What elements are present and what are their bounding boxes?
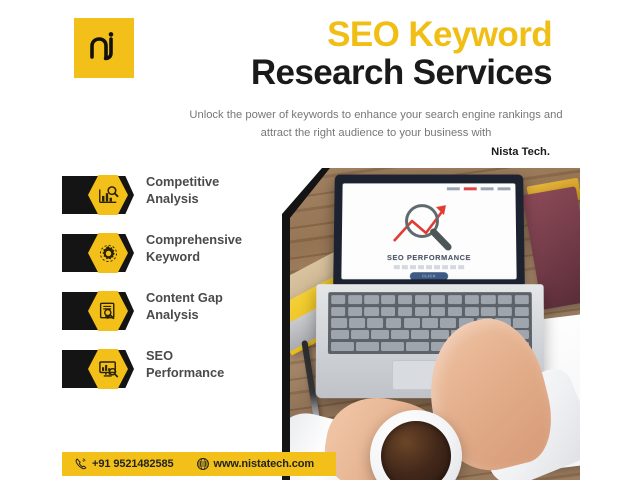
screen-cta-button[interactable]: CLICK: [410, 272, 448, 279]
chart-magnifier-icon: [97, 184, 119, 206]
laptop-lid: SEO PERFORMANCE CLICK: [333, 175, 525, 287]
gear-cog-icon: [98, 243, 119, 264]
nav-item: [481, 187, 494, 189]
feature-label-line-2: Performance: [146, 364, 292, 381]
phone-contact[interactable]: +91 9521482585: [74, 457, 174, 471]
feature-label-line-1: Competitive: [146, 173, 292, 190]
phone-ringing-icon: [74, 457, 88, 471]
feature-label-line-2: Keyword: [146, 248, 292, 265]
magnifier-growth-arrow-icon: [342, 197, 517, 253]
feature-icon-hex: [88, 291, 128, 331]
contact-footer-bar: +91 9521482585 www.nistatech.com: [62, 452, 336, 476]
nista-ni-monogram-icon: [87, 31, 121, 65]
monitor-magnifier-icon: [98, 359, 119, 380]
feature-label-line-1: Comprehensive: [146, 231, 292, 248]
feature-label-line-1: Content Gap: [146, 289, 292, 306]
coffee-liquid: [381, 421, 451, 480]
website-contact[interactable]: www.nistatech.com: [196, 457, 315, 471]
list-item[interactable]: Competitive Analysis: [62, 172, 292, 228]
nav-item: [498, 187, 511, 189]
list-item[interactable]: Comprehensive Keyword: [62, 230, 292, 286]
laptop-screen: SEO PERFORMANCE CLICK: [341, 183, 516, 279]
subtitle-brand: Nista Tech.: [180, 143, 572, 161]
brand-logo: [74, 18, 134, 78]
feature-label-line-1: SEO: [146, 347, 292, 364]
subtitle-block: Unlock the power of keywords to enhance …: [180, 106, 572, 161]
phone-number: +91 9521482585: [92, 458, 174, 470]
feature-label: Competitive Analysis: [146, 173, 292, 207]
feature-icon-hex: [88, 349, 128, 389]
list-item[interactable]: SEO Performance: [62, 346, 292, 402]
page-title: SEO Keyword Research Services: [160, 16, 580, 92]
title-main: Research Services: [160, 54, 580, 92]
screen-text-placeholder: [394, 265, 464, 269]
feature-icon-hex: [88, 175, 128, 215]
feature-label: SEO Performance: [146, 347, 292, 381]
globe-icon: [196, 457, 210, 471]
nav-item: [464, 187, 477, 189]
document-magnifier-icon: [98, 301, 119, 322]
screen-nav-items: [447, 187, 511, 189]
hero-photo: SEO PERFORMANCE CLICK: [282, 168, 580, 480]
feature-label-line-2: Analysis: [146, 306, 292, 323]
feature-icon-hex: [88, 233, 128, 273]
feature-list: Competitive Analysis Compre: [62, 172, 292, 404]
feature-label: Comprehensive Keyword: [146, 231, 292, 265]
list-item[interactable]: Content Gap Analysis: [62, 288, 292, 344]
title-highlight: SEO Keyword: [160, 16, 580, 54]
nav-item: [447, 187, 460, 189]
subtitle-line-1: Unlock the power of keywords to enhance …: [189, 109, 495, 121]
feature-label-line-2: Analysis: [146, 190, 292, 207]
feature-label: Content Gap Analysis: [146, 289, 292, 323]
poster-canvas: SEO Keyword Research Services Unlock the…: [0, 0, 640, 480]
screen-headline: SEO PERFORMANCE: [342, 253, 517, 262]
website-url: www.nistatech.com: [214, 458, 315, 470]
